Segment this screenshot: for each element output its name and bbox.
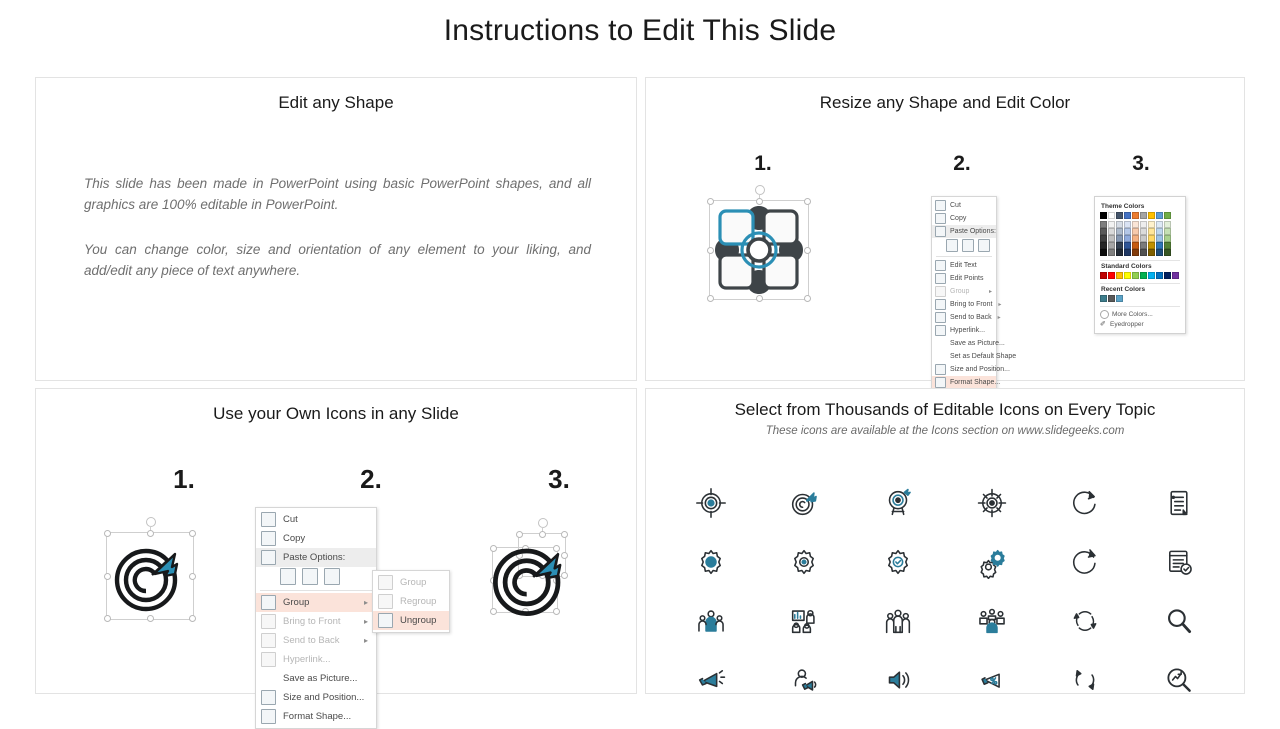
menu-item-bring-to-front[interactable]: Bring to Front▸ [932, 298, 996, 311]
magnifier-icon[interactable] [1162, 604, 1196, 638]
menu-item-label: Group [283, 597, 358, 608]
color-swatch[interactable] [1140, 212, 1147, 219]
color-swatch[interactable] [1148, 228, 1155, 235]
paste-picture-icon[interactable] [962, 239, 974, 252]
resize-handle-bottom-left[interactable] [104, 615, 111, 622]
group-icon [378, 575, 393, 590]
menu-separator [936, 256, 992, 257]
paste-icon [935, 226, 946, 237]
color-swatch[interactable] [1164, 242, 1171, 249]
color-swatch[interactable] [1172, 272, 1179, 279]
target-with-arrow-grouped-icon [112, 538, 188, 614]
format-shape-icon [935, 377, 946, 388]
color-swatch[interactable] [1100, 272, 1107, 279]
menu-item-label: Size and Position... [950, 366, 1010, 373]
menu-item-hyperlink[interactable]: Hyperlink... [932, 324, 996, 337]
crowd-icon[interactable] [881, 604, 915, 638]
color-swatch[interactable] [1156, 272, 1163, 279]
paste-keep-formatting-icon[interactable] [946, 239, 958, 252]
color-swatch[interactable] [1116, 228, 1123, 235]
send-back-icon [935, 312, 946, 323]
menu-item-save-as-picture[interactable]: Save as Picture... [256, 669, 376, 688]
cycle-arrows-icon[interactable] [1068, 604, 1102, 638]
color-swatch[interactable] [1164, 221, 1171, 228]
eyedropper-button-label: Eyedropper [1110, 321, 1144, 328]
document-approved-icon[interactable] [1162, 545, 1196, 579]
edit-points-icon [935, 273, 946, 284]
color-swatch[interactable] [1124, 228, 1131, 235]
color-swatch[interactable] [1108, 295, 1115, 302]
color-swatch[interactable] [1108, 228, 1115, 235]
menu-separator [260, 590, 372, 591]
megaphone-percent-icon[interactable] [975, 663, 1009, 697]
menu-item-set-as-default-shape[interactable]: Set as Default Shape [932, 350, 996, 363]
color-swatch[interactable] [1140, 228, 1147, 235]
chevron-right-icon: ▸ [989, 288, 992, 295]
target-arrow-icon[interactable] [787, 486, 821, 520]
menu-item-label: Edit Text [950, 262, 992, 269]
color-swatch[interactable] [1148, 235, 1155, 242]
standard-colors-label: Standard Colors [1101, 263, 1180, 270]
menu-item-group: Group [373, 573, 449, 592]
four-quadrant-shape-figure[interactable] [709, 200, 809, 300]
color-swatch[interactable] [1164, 235, 1171, 242]
color-swatch[interactable] [1156, 242, 1163, 249]
panel-title-edit-shape: Edit any Shape [36, 78, 636, 115]
menu-item-label: Bring to Front [283, 616, 358, 627]
paste-options-row[interactable] [256, 567, 376, 588]
gear-outline-icon[interactable] [787, 545, 821, 579]
rotate-handle-icon[interactable] [538, 518, 548, 528]
color-swatch[interactable] [1132, 228, 1139, 235]
color-swatch[interactable] [1140, 221, 1147, 228]
color-swatch[interactable] [1108, 272, 1115, 279]
paste-text-icon[interactable] [324, 568, 340, 585]
menu-item-label: Format Shape... [283, 711, 368, 722]
color-swatch[interactable] [1132, 242, 1139, 249]
paste-keep-formatting-icon[interactable] [280, 568, 296, 585]
color-swatch[interactable] [1124, 235, 1131, 242]
chevron-right-icon: ▸ [998, 314, 1001, 321]
person-announce-icon[interactable] [787, 663, 821, 697]
menu-item-regroup: Regroup [373, 592, 449, 611]
eyedropper-icon: ✐ [1100, 321, 1107, 328]
resize-handle-top-center[interactable] [147, 530, 154, 537]
theme-colors-tint-row-1 [1100, 221, 1180, 228]
color-swatch[interactable] [1156, 221, 1163, 228]
menu-item-group: Group▸ [932, 285, 996, 298]
color-picker-panel[interactable]: Theme ColorsStandard ColorsRecent Colors… [1094, 196, 1186, 334]
panel-title-resize-shape: Resize any Shape and Edit Color [646, 78, 1244, 115]
resize-handle-top-right[interactable] [189, 530, 196, 537]
size-position-icon [935, 364, 946, 375]
ungroup-icon [378, 613, 393, 628]
color-swatch[interactable] [1100, 295, 1107, 302]
theme-colors-tint-row-4 [1100, 242, 1180, 249]
crosshair-icon[interactable] [975, 486, 1009, 520]
color-swatch[interactable] [1140, 272, 1147, 279]
color-swatch[interactable] [1124, 212, 1131, 219]
team-group-icon[interactable] [694, 604, 728, 638]
recent-colors-row [1100, 295, 1180, 302]
scissors-icon [935, 200, 946, 211]
panel-title-own-icons: Use your Own Icons in any Slide [36, 389, 636, 426]
magnifier-chart-icon[interactable] [1162, 663, 1196, 697]
copy-icon [935, 213, 946, 224]
eyedropper-button[interactable]: ✐Eyedropper [1100, 319, 1180, 329]
menu-item-edit-text[interactable]: Edit Text [932, 259, 996, 272]
menu-item-ungroup[interactable]: Ungroup [373, 611, 449, 630]
chevron-right-icon: ▸ [998, 301, 1001, 308]
menu-item-label: Paste Options: [283, 552, 368, 563]
menu-item-label: Set as Default Shape [950, 353, 1016, 360]
chevron-right-icon: ▸ [364, 636, 368, 645]
theme-colors-base-row [1100, 212, 1180, 219]
menu-item-label: Save as Picture... [283, 673, 368, 684]
resize-handle-bottom-center[interactable] [147, 615, 154, 622]
panel-resize-shape: Resize any Shape and Edit Color 1. 2. 3. [645, 77, 1245, 381]
color-swatch[interactable] [1164, 212, 1171, 219]
color-swatch[interactable] [1116, 212, 1123, 219]
color-swatch[interactable] [1124, 221, 1131, 228]
shape-context-menu[interactable]: CutCopyPaste Options:Edit TextEdit Point… [931, 196, 997, 392]
crosshair-target-icon[interactable] [694, 486, 728, 520]
menu-item-size-and-position[interactable]: Size and Position... [932, 363, 996, 376]
color-swatch[interactable] [1156, 249, 1163, 256]
menu-item-label: Save as Picture... [950, 340, 1005, 347]
menu-item-group[interactable]: Group▸ [256, 593, 376, 612]
color-swatch[interactable] [1100, 242, 1107, 249]
hyperlink-icon [935, 325, 946, 336]
menu-item-label: Edit Points [950, 275, 992, 282]
more-colors-button[interactable]: More Colors... [1100, 309, 1180, 319]
color-swatch[interactable] [1108, 212, 1115, 219]
theme-colors-tint-row-2 [1100, 228, 1180, 235]
color-swatch[interactable] [1100, 212, 1107, 219]
menu-item-format-shape[interactable]: Format Shape... [256, 707, 376, 726]
menu-item-send-to-back: Send to Back▸ [256, 631, 376, 650]
group-icon [935, 286, 946, 297]
menu-item-cut[interactable]: Cut [256, 510, 376, 529]
menu-item-cut[interactable]: Cut [932, 199, 996, 212]
menu-item-send-to-back[interactable]: Send to Back▸ [932, 311, 996, 324]
slide-canvas: Instructions to Edit This Slide Edit any… [0, 0, 1280, 720]
circular-arrow-icon[interactable] [1068, 545, 1102, 579]
color-swatch[interactable] [1100, 235, 1107, 242]
color-swatch[interactable] [1124, 249, 1131, 256]
menu-item-label: Hyperlink... [283, 654, 368, 665]
standard-colors-row [1100, 272, 1180, 279]
format-shape-icon [261, 709, 276, 724]
speaker-icon[interactable] [881, 663, 915, 697]
refresh-cycle-icon[interactable] [1068, 663, 1102, 697]
paste-text-icon[interactable] [978, 239, 990, 252]
rotate-handle-icon[interactable] [755, 185, 765, 195]
page-title: Instructions to Edit This Slide [0, 14, 1280, 48]
menu-item-label: Format Shape... [950, 379, 1000, 386]
rotate-handle-icon[interactable] [146, 517, 156, 527]
target-ungrouped-figure[interactable] [488, 529, 580, 621]
resize-step-number-1: 1. [733, 152, 793, 176]
color-swatch[interactable] [1108, 235, 1115, 242]
color-swatch[interactable] [1132, 212, 1139, 219]
color-swatch[interactable] [1116, 249, 1123, 256]
paste-options-row[interactable] [932, 238, 996, 254]
editable-icons-subtitle: These icons are available at the Icons s… [646, 425, 1244, 437]
group-context-menu[interactable]: CutCopyPaste Options:Group▸Bring to Fron… [255, 507, 377, 729]
gear-filled-icon[interactable] [694, 545, 728, 579]
group-submenu[interactable]: GroupRegroupUngroup [372, 570, 450, 633]
menu-item-label: Cut [283, 514, 368, 525]
scissors-icon [261, 512, 276, 527]
resize-step-number-3: 3. [1111, 152, 1171, 176]
menu-item-bring-to-front: Bring to Front▸ [256, 612, 376, 631]
resize-handle-middle-left[interactable] [104, 573, 111, 580]
team-hierarchy-icon[interactable] [975, 604, 1009, 638]
target-stand-icon[interactable] [881, 486, 915, 520]
color-swatch[interactable] [1140, 242, 1147, 249]
color-swatch[interactable] [1116, 272, 1123, 279]
picker-separator [1100, 283, 1180, 284]
four-quadrant-shape-icon [709, 200, 809, 300]
menu-item-paste-options[interactable]: Paste Options: [932, 225, 996, 238]
menu-item-copy[interactable]: Copy [932, 212, 996, 225]
menu-item-label: Hyperlink... [950, 327, 992, 334]
regroup-icon [378, 594, 393, 609]
theme-colors-tint-row-5 [1100, 249, 1180, 256]
color-swatch[interactable] [1164, 249, 1171, 256]
edit-text-icon [935, 260, 946, 271]
paste-picture-icon[interactable] [302, 568, 318, 585]
color-swatch[interactable] [1156, 228, 1163, 235]
color-swatch[interactable] [1116, 295, 1123, 302]
color-swatch[interactable] [1108, 249, 1115, 256]
hyperlink-icon [261, 652, 276, 667]
presentation-team-icon[interactable] [787, 604, 821, 638]
color-swatch[interactable] [1148, 272, 1155, 279]
menu-item-hyperlink: Hyperlink... [256, 650, 376, 669]
megaphone-icon[interactable] [694, 663, 728, 697]
menu-item-label: Group [400, 577, 441, 588]
menu-item-label: Regroup [400, 596, 441, 607]
color-swatch[interactable] [1148, 242, 1155, 249]
theme-colors-tint-row-3 [1100, 235, 1180, 242]
panel-own-icons: Use your Own Icons in any Slide 1. 2. 3. [35, 388, 637, 694]
color-swatch[interactable] [1148, 212, 1155, 219]
chevron-right-icon: ▸ [364, 617, 368, 626]
color-swatch[interactable] [1164, 272, 1171, 279]
edit-shape-paragraph-1: This slide has been made in PowerPoint u… [84, 174, 591, 216]
icons-step-number-1: 1. [154, 464, 214, 495]
color-swatch[interactable] [1100, 221, 1107, 228]
color-swatch[interactable] [1124, 242, 1131, 249]
icons-step-number-2: 2. [341, 464, 401, 495]
resize-handle-top-left[interactable] [104, 530, 111, 537]
color-swatch[interactable] [1132, 221, 1139, 228]
resize-step-number-2: 2. [932, 152, 992, 176]
target-with-arrow-ungrouped-icon [490, 537, 572, 619]
icons-step-number-3: 3. [529, 464, 589, 495]
menu-item-label: Bring to Front [950, 301, 992, 308]
target-grouped-figure[interactable] [106, 532, 194, 620]
palette-icon [1100, 310, 1109, 319]
menu-item-label: Copy [283, 533, 368, 544]
recent-colors-label: Recent Colors [1101, 286, 1180, 293]
send-back-icon [261, 633, 276, 648]
paste-icon [261, 550, 276, 565]
color-swatch[interactable] [1140, 235, 1147, 242]
color-swatch[interactable] [1156, 212, 1163, 219]
theme-colors-label: Theme Colors [1101, 203, 1180, 210]
color-swatch[interactable] [1116, 221, 1123, 228]
menu-item-label: Paste Options: [950, 228, 996, 235]
color-swatch[interactable] [1116, 235, 1123, 242]
chevron-right-icon: ▸ [364, 598, 368, 607]
panel-edit-any-shape: Edit any Shape This slide has been made … [35, 77, 637, 381]
menu-item-label: Cut [950, 202, 992, 209]
checklist-document-icon[interactable] [1162, 486, 1196, 520]
color-swatch[interactable] [1100, 249, 1107, 256]
group-icon [261, 595, 276, 610]
color-swatch[interactable] [1156, 235, 1163, 242]
color-swatch[interactable] [1132, 235, 1139, 242]
edit-shape-paragraph-2: You can change color, size and orientati… [84, 240, 591, 282]
resize-handle-middle-right[interactable] [189, 573, 196, 580]
color-swatch[interactable] [1116, 242, 1123, 249]
picker-separator [1100, 306, 1180, 307]
gear-check-icon[interactable] [881, 545, 915, 579]
color-swatch[interactable] [1100, 228, 1107, 235]
double-gear-icon[interactable] [975, 545, 1009, 579]
panel-editable-icons: Select from Thousands of Editable Icons … [645, 388, 1245, 694]
menu-item-label: Ungroup [400, 615, 441, 626]
menu-item-save-as-picture[interactable]: Save as Picture... [932, 337, 996, 350]
size-position-icon [261, 690, 276, 705]
refresh-arrow-icon[interactable] [1068, 486, 1102, 520]
menu-item-paste-options[interactable]: Paste Options: [256, 548, 376, 567]
menu-item-copy[interactable]: Copy [256, 529, 376, 548]
color-swatch[interactable] [1108, 242, 1115, 249]
menu-item-edit-points[interactable]: Edit Points [932, 272, 996, 285]
menu-item-size-and-position[interactable]: Size and Position... [256, 688, 376, 707]
color-swatch[interactable] [1132, 272, 1139, 279]
resize-handle-bottom-right[interactable] [189, 615, 196, 622]
color-swatch[interactable] [1148, 221, 1155, 228]
panel-title-editable-icons: Select from Thousands of Editable Icons … [646, 389, 1244, 422]
menu-item-label: Size and Position... [283, 692, 368, 703]
icon-gallery-grid [664, 473, 1226, 709]
color-swatch[interactable] [1132, 249, 1139, 256]
color-swatch[interactable] [1148, 249, 1155, 256]
menu-item-label: Copy [950, 215, 992, 222]
menu-item-label: Group [950, 288, 983, 295]
bring-front-icon [261, 614, 276, 629]
menu-item-label: Send to Back [950, 314, 992, 321]
color-swatch[interactable] [1164, 228, 1171, 235]
more-colors-button-label: More Colors... [1112, 311, 1153, 318]
color-swatch[interactable] [1124, 272, 1131, 279]
color-swatch[interactable] [1140, 249, 1147, 256]
bring-front-icon [935, 299, 946, 310]
picker-separator [1100, 260, 1180, 261]
color-swatch[interactable] [1108, 221, 1115, 228]
copy-icon [261, 531, 276, 546]
menu-item-label: Send to Back [283, 635, 358, 646]
